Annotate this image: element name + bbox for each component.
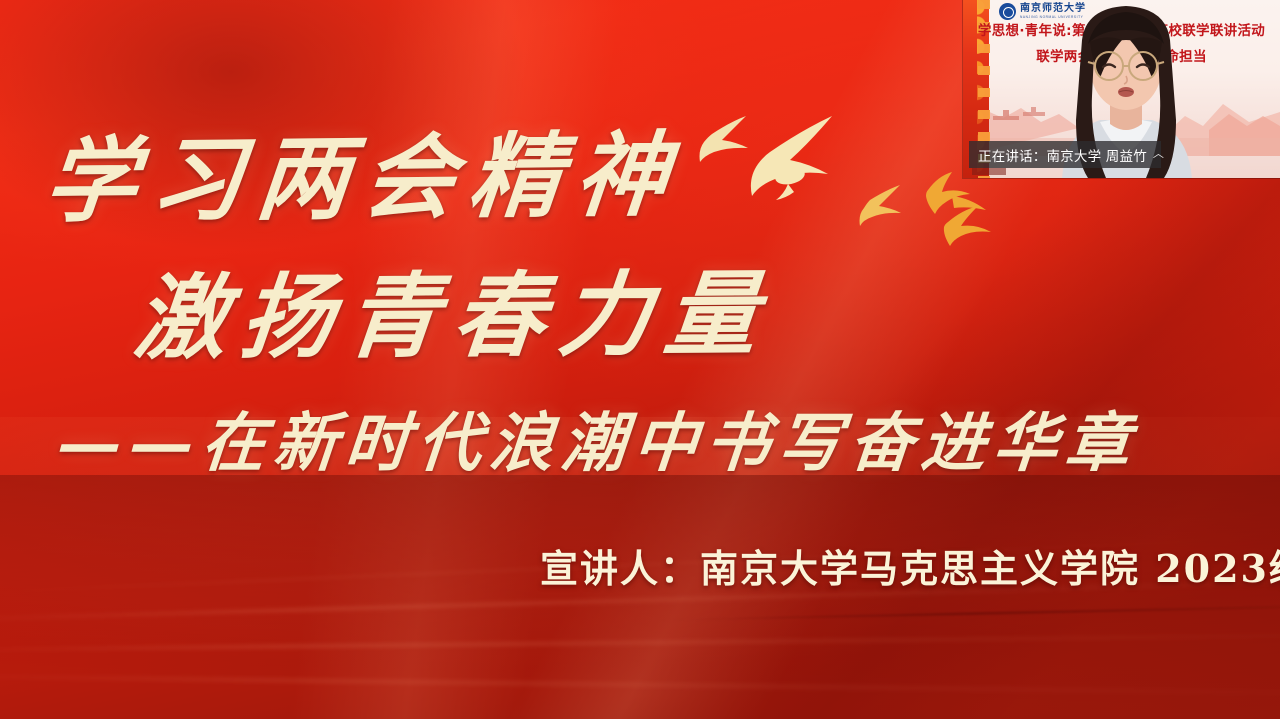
video-watermark xyxy=(972,168,1006,175)
slide-title-line-1: 学习两会精神 xyxy=(39,101,688,241)
silk-wave-3 xyxy=(0,673,1280,698)
slide-subtitle: ——在新时代浪潮中书写奋进华章 xyxy=(54,392,1142,484)
university-emblem-icon xyxy=(999,3,1016,20)
active-speaker-label: 正在讲话：南京大学 周益竹 xyxy=(978,145,1147,165)
silk-wave-2 xyxy=(0,631,1280,652)
silk-crease xyxy=(666,603,1280,621)
slide-presenter-line: 宣讲人：南京大学马克思主义学院 2023级周益竹 xyxy=(540,538,1280,593)
chevron-up-icon[interactable]: ︿ xyxy=(1153,149,1164,160)
speaker-video-tile[interactable]: 南京师范大学 NANJING NORMAL UNIVERSITY 学思想·青年说… xyxy=(963,0,1280,178)
screen-share-view: 学习两会精神 激扬青春力量 ——在新时代浪潮中书写奋进华章 宣讲人：南京大学马克… xyxy=(0,0,1280,719)
active-speaker-bar[interactable]: 正在讲话：南京大学 周益竹 ︿ xyxy=(969,141,1161,168)
slide-title-line-2: 激扬青春力量 xyxy=(129,240,779,377)
